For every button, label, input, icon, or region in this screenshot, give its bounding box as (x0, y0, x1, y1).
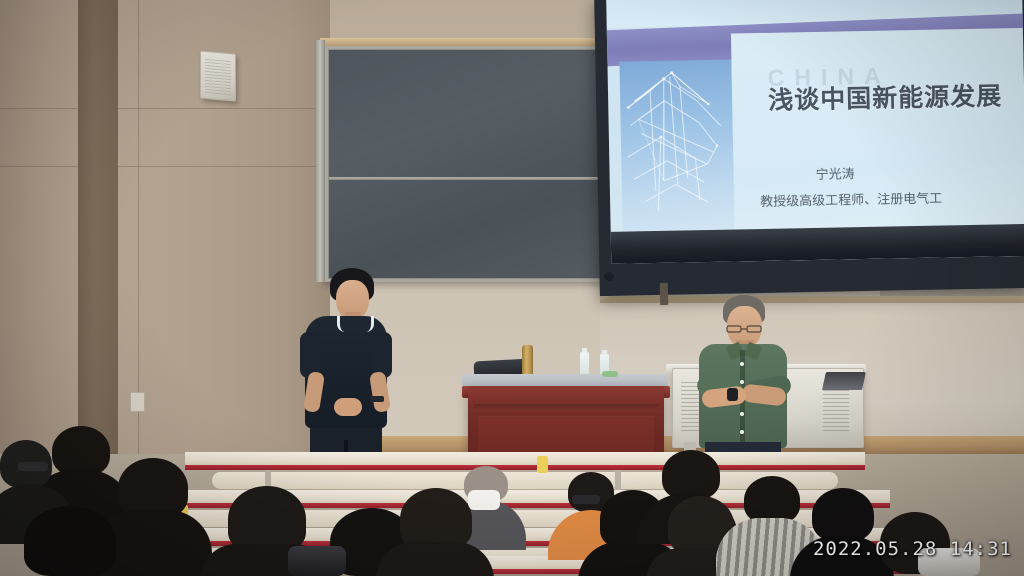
wristwatch-icon (727, 388, 738, 401)
wall-outlet-plate (130, 392, 145, 412)
slide-side-panel (619, 60, 735, 258)
lectern-bevel (474, 404, 658, 412)
wall-seam (0, 166, 330, 167)
power-transmission-tower-wireframe-icon (619, 60, 735, 258)
blackboard-rail (316, 40, 325, 282)
projected-slide: CHINA 浅谈中国新能源发展 宁光涛 教授级高级工程师、注册电气工 2022年… (606, 0, 1024, 264)
back-wall-left (0, 0, 330, 470)
yellow-object-on-desk (537, 456, 548, 473)
man-wristwatch-icon (370, 396, 384, 402)
green-object (602, 371, 618, 377)
audience-head (400, 488, 472, 550)
shirt-button (740, 430, 744, 434)
audience-head (228, 486, 306, 552)
bottle-left (580, 352, 589, 375)
wall-pillar (78, 0, 118, 470)
audience-head (662, 450, 720, 500)
eyeglasses-icon (18, 462, 48, 471)
eyeglasses-icon (726, 320, 763, 328)
audience-head (744, 476, 800, 524)
shirt-button (740, 412, 744, 416)
desk-leg (615, 470, 621, 490)
polo-collar (337, 316, 374, 332)
screen-weight-bar (611, 224, 1024, 264)
man-clasped-hands (334, 398, 362, 416)
photo-canvas: CHINA 浅谈中国新能源发展 宁光涛 教授级高级工程师、注册电气工 2022年… (0, 0, 1024, 576)
audience-head (24, 506, 116, 576)
sleeve-left (300, 332, 320, 378)
wall-speaker-icon (200, 50, 236, 101)
blackboard-divider (329, 177, 603, 180)
blackboard (328, 49, 606, 279)
console-dark-top (822, 372, 866, 390)
shirt-button (740, 362, 744, 366)
audience-head (52, 426, 110, 476)
audience-head (812, 488, 874, 542)
projection-screen: CHINA 浅谈中国新能源发展 宁光涛 教授级高级工程师、注册电气工 2022年… (594, 0, 1024, 296)
sleeve-right (372, 332, 392, 378)
camera-timestamp: 2022.05.28 14:31 (813, 538, 1012, 560)
slide-presenter-name: 宁光涛 (815, 163, 854, 183)
desk-edge-band (185, 465, 865, 470)
blackboard-ledge (320, 38, 612, 46)
slide-presenter-role: 教授级高级工程师、注册电气工 (760, 188, 942, 210)
screen-support-post (660, 283, 668, 305)
audience-head (118, 458, 188, 518)
backpack-on-desk (288, 546, 346, 576)
face-mask-icon (468, 490, 500, 510)
wall-seam (0, 108, 330, 109)
audience-shoulders (376, 542, 494, 576)
slide-title: 浅谈中国新能源发展 (768, 76, 1003, 116)
screen-pull-knob (604, 272, 614, 281)
eyeglasses-icon (572, 495, 600, 504)
bench-seat (212, 472, 838, 489)
desk-surface (185, 452, 865, 465)
